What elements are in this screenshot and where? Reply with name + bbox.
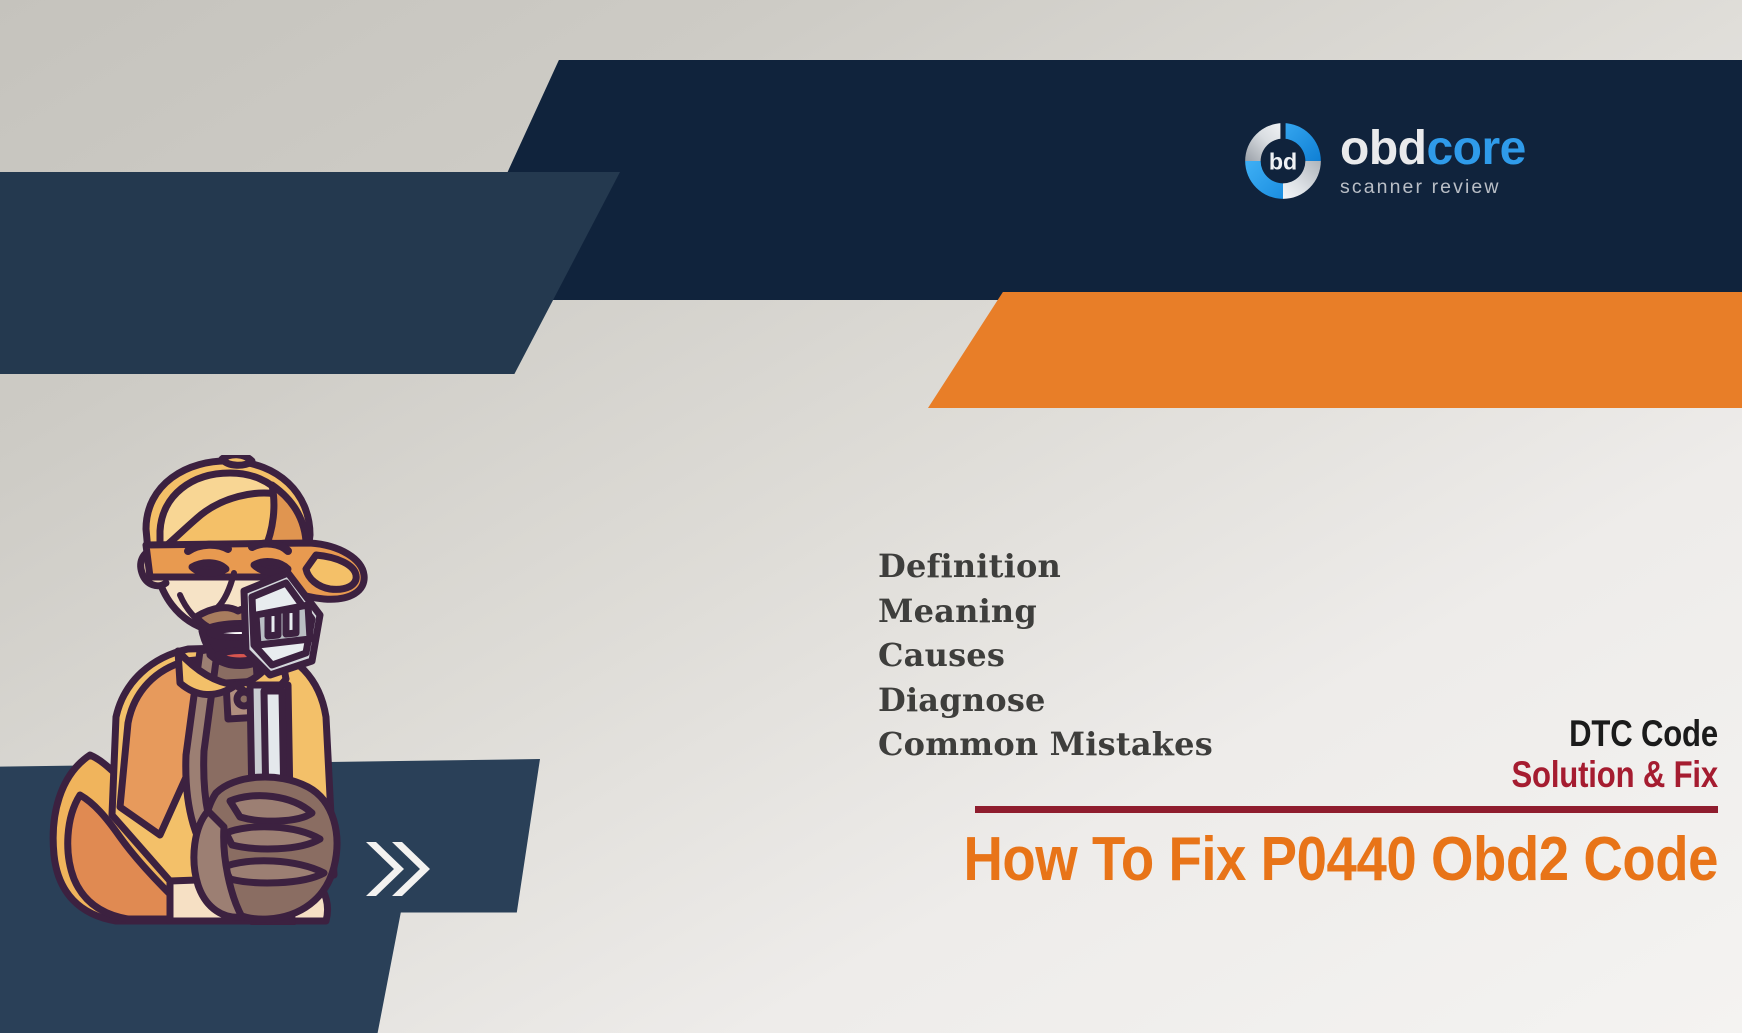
poster-canvas: bd obdcore scanner review	[0, 0, 1742, 1033]
kicker-solution-fix: Solution & Fix	[829, 754, 1718, 797]
brand-logo[interactable]: bd obdcore scanner review	[1240, 118, 1526, 204]
orange-parallelogram	[928, 292, 1742, 408]
logo-word-core: core	[1426, 122, 1525, 175]
logo-text: obdcore scanner review	[1340, 125, 1526, 198]
mechanic-with-wrench-illustration	[20, 455, 380, 925]
kicker-dtc-code: DTC Code	[829, 715, 1718, 754]
logo-initials: bd	[1269, 149, 1297, 175]
title-block: DTC Code Solution & Fix How To Fix P0440…	[660, 715, 1742, 892]
navy-top-parallelogram	[449, 0, 1742, 300]
navy-left-parallelogram	[0, 172, 620, 374]
logo-wordmark: obdcore	[1340, 125, 1526, 173]
list-item: Definition	[878, 544, 1213, 589]
logo-word-obd: obd	[1340, 122, 1426, 175]
list-item: Causes	[878, 633, 1213, 678]
logo-tagline: scanner review	[1340, 178, 1526, 198]
title-divider-rule	[975, 806, 1718, 813]
page-title: How To Fix P0440 Obd2 Code	[787, 827, 1718, 892]
donut-ring-icon: bd	[1240, 118, 1326, 204]
list-item: Meaning	[878, 589, 1213, 634]
